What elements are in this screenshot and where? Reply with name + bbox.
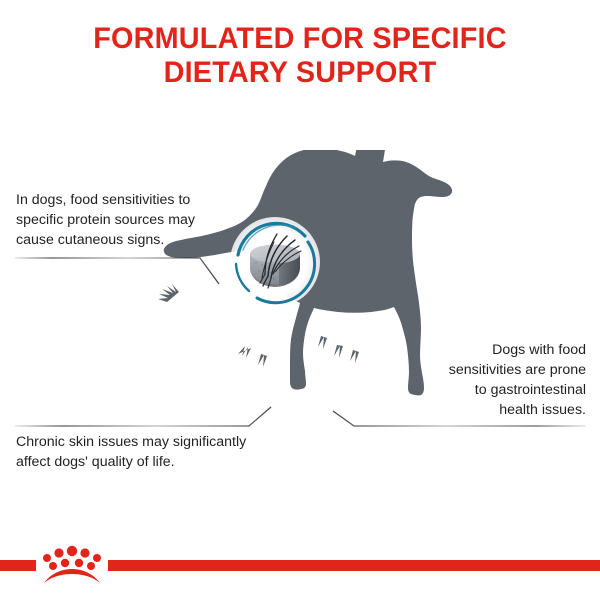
callout-right-line-2: sensitivities are prone [400, 360, 586, 380]
callout-right-line-1: Dogs with food [400, 340, 586, 360]
page-title: FORMULATED FOR SPECIFIC DIETARY SUPPORT [50, 22, 549, 90]
page-title-line-2: DIETARY SUPPORT [50, 56, 549, 90]
callout-bottom-left: Chronic skin issues may significantly af… [16, 432, 316, 472]
callout-top-left: In dogs, food sensitivities to specific … [16, 190, 246, 250]
callout-top-left-line-3: cause cutaneous signs. [16, 230, 246, 250]
footer-rule-right [108, 560, 600, 571]
callout-bottom-left-line-2: affect dogs' quality of life. [16, 452, 316, 472]
callout-right: Dogs with food sensitivities are prone t… [400, 340, 586, 420]
callout-bottom-left-line-1: Chronic skin issues may significantly [16, 432, 316, 452]
callout-right-line-4: health issues. [400, 400, 586, 420]
callout-right-line-3: to gastrointestinal [400, 380, 586, 400]
callout-top-left-line-2: specific protein sources may [16, 210, 246, 230]
callout-top-left-line-1: In dogs, food sensitivities to [16, 190, 246, 210]
royal-canin-crown-icon [38, 544, 106, 588]
footer-rule-left [0, 560, 36, 571]
infographic-page: FORMULATED FOR SPECIFIC DIETARY SUPPORT [0, 0, 600, 600]
page-title-line-1: FORMULATED FOR SPECIFIC [50, 22, 549, 56]
